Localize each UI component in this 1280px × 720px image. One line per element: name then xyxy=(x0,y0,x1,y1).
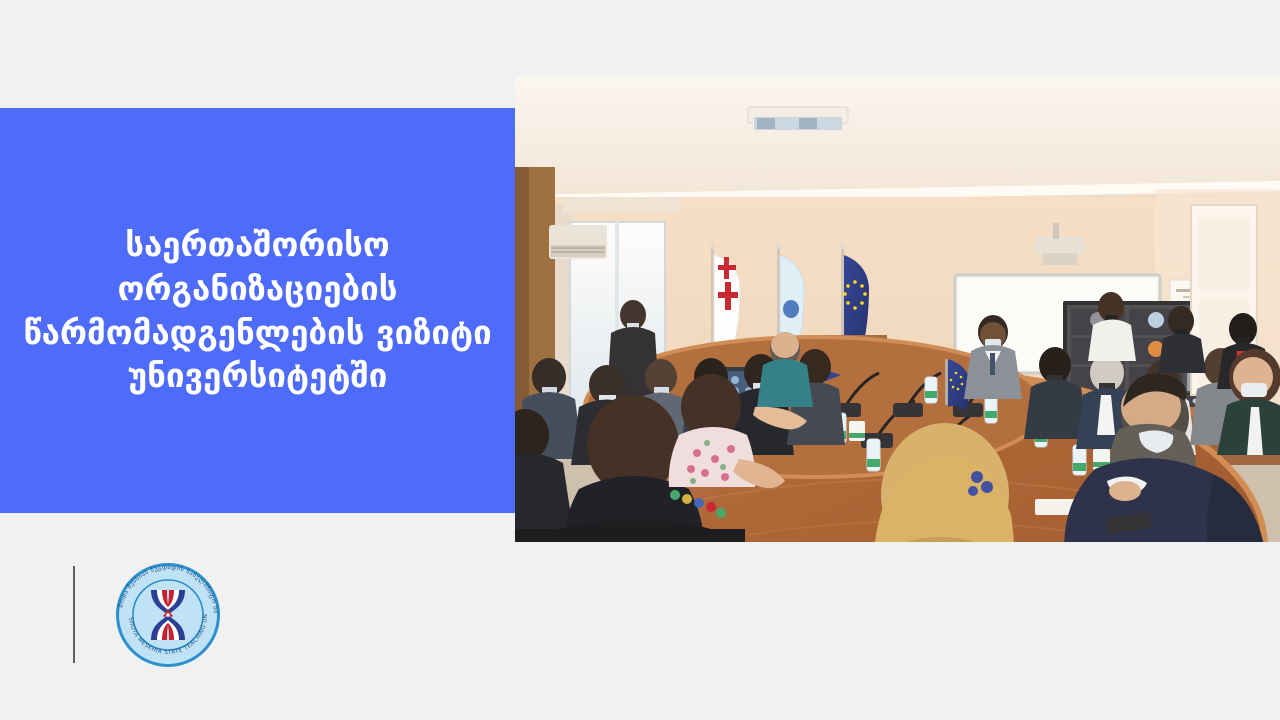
slide-canvas: საერთაშორისო ორგანიზაციების წარმომადგენლ… xyxy=(0,0,1280,720)
meeting-photo xyxy=(515,77,1280,542)
footer-branding: შოთა მესხიას ზუგდიდის სახელმწიფო სასწავლ… xyxy=(0,550,520,680)
university-seal-icon: შოთა მესხიას ზუგდიდის სახელმწიფო სასწავლ… xyxy=(113,560,223,670)
footer-divider xyxy=(73,566,75,663)
meeting-photo-illustration xyxy=(515,77,1280,542)
page-title: საერთაშორისო ორგანიზაციების წარმომადგენლ… xyxy=(0,108,521,513)
university-logo: შოთა მესხიას ზუგდიდის სახელმწიფო სასწავლ… xyxy=(113,560,223,670)
